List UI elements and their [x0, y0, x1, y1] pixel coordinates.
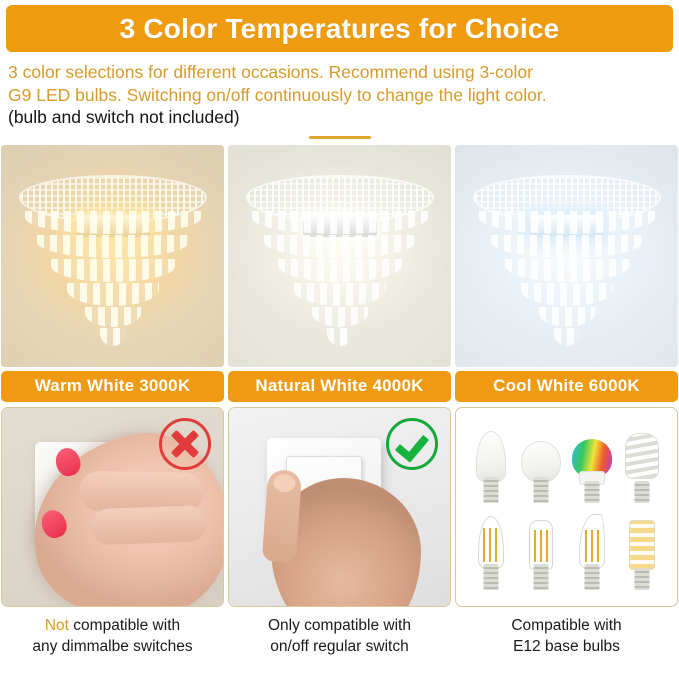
subtitle-line-2: G9 LED bulbs. Switching on/off continuou…: [8, 84, 671, 107]
subtitle-block: 3 color selections for different occasio…: [0, 52, 679, 129]
header-banner: 3 Color Temperatures for Choice: [6, 5, 673, 52]
caption-row: Not compatible with any dimmalbe switche…: [0, 615, 679, 657]
chandelier-photo-warm: [1, 145, 224, 367]
product-card-natural: Natural White 4000K: [228, 145, 451, 402]
chandelier-tiers: [479, 211, 655, 346]
caption-line-1: Only compatible with: [228, 615, 451, 636]
red-x-badge: [159, 418, 211, 470]
caption-line-2: any dimmalbe switches: [1, 636, 224, 657]
page-title: 3 Color Temperatures for Choice: [120, 13, 560, 45]
product-label-warm: Warm White 3000K: [35, 376, 191, 396]
frosted-globe-bulb-icon: [520, 423, 562, 503]
product-card-warm: Warm White 3000K: [1, 145, 224, 402]
caption-rocker: Only compatible with on/off regular swit…: [228, 615, 451, 657]
chandelier-photo-natural: [228, 145, 451, 367]
label-bar-natural: Natural White 4000K: [228, 371, 451, 402]
bulb-types-photo: [455, 407, 678, 607]
section-divider: [309, 136, 371, 139]
caption-line-2: on/off regular switch: [228, 636, 451, 657]
bulb-grid: [456, 408, 677, 606]
product-label-natural: Natural White 4000K: [255, 376, 423, 396]
caption-line-1: compatible with: [69, 617, 180, 634]
chandelier-photo-cool: [455, 145, 678, 367]
caption-accent-word: Not: [45, 617, 69, 634]
compatibility-row: [0, 407, 679, 607]
color-temperature-row: Warm White 3000K: [0, 145, 679, 402]
checkmark-icon: [395, 427, 430, 463]
green-check-badge: [386, 418, 438, 470]
label-bar-warm: Warm White 3000K: [1, 371, 224, 402]
chandelier-tiers: [252, 211, 428, 346]
product-card-cool: Cool White 6000K: [455, 145, 678, 402]
frosted-candle-bulb-icon: [470, 423, 512, 503]
index-finger: [262, 468, 302, 562]
filament-tube-bulb-icon: [520, 510, 562, 590]
crystal-chandelier-icon: [19, 175, 207, 347]
subtitle-line-3: (bulb and switch not included): [8, 106, 671, 129]
divider-row: [0, 136, 679, 139]
dimmer-switch-photo: [1, 407, 224, 607]
caption-line-2: E12 base bulbs: [455, 636, 678, 657]
filament-candle-bulb-icon: [470, 510, 512, 590]
caption-bulbs: Compatible with E12 base bulbs: [455, 615, 678, 657]
label-bar-cool: Cool White 6000K: [455, 371, 678, 402]
cfl-spiral-bulb-icon: [621, 423, 663, 503]
rocker-switch-photo: [228, 407, 451, 607]
compatibility-card-dimmer: [1, 407, 224, 607]
corn-led-bulb-icon: [621, 510, 663, 590]
rgb-color-changing-bulb-icon: [571, 423, 613, 503]
caption-line-1: Compatible with: [455, 615, 678, 636]
crystal-chandelier-icon: [473, 175, 661, 347]
compatibility-card-bulbs: [455, 407, 678, 607]
caption-dimmer: Not compatible with any dimmalbe switche…: [1, 615, 224, 657]
crystal-chandelier-icon: [246, 175, 434, 347]
infographic-page: 3 Color Temperatures for Choice 3 color …: [0, 5, 679, 679]
filament-flame-tip-bulb-icon: [571, 510, 613, 590]
product-label-cool: Cool White 6000K: [493, 376, 640, 396]
subtitle-line-1: 3 color selections for different occasio…: [8, 61, 671, 84]
chandelier-tiers: [25, 211, 201, 346]
compatibility-card-rocker: [228, 407, 451, 607]
